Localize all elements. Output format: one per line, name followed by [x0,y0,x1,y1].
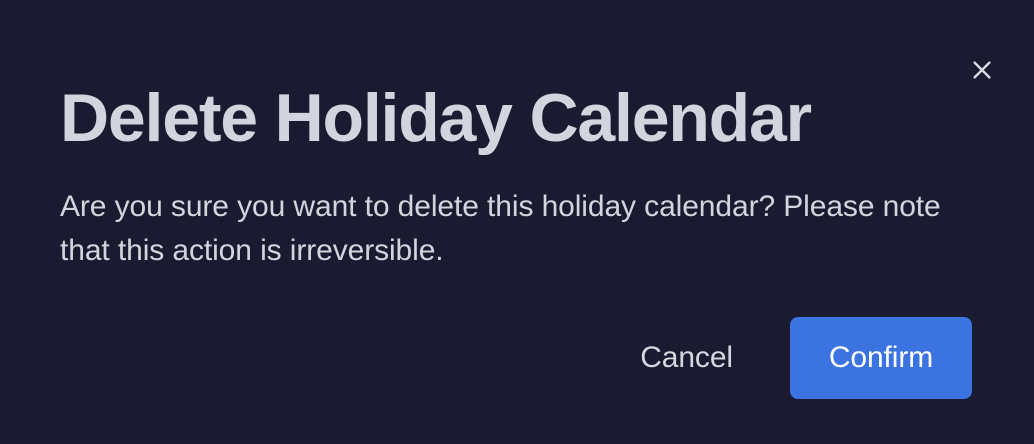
dialog-title: Delete Holiday Calendar [60,78,811,158]
cancel-button[interactable]: Cancel [640,343,733,373]
close-icon [972,60,992,80]
confirm-button[interactable]: Confirm [790,317,972,399]
dialog-actions: Cancel Confirm [0,317,1034,399]
close-button[interactable] [962,50,1002,90]
delete-holiday-calendar-dialog: Delete Holiday Calendar Are you sure you… [0,0,1034,444]
dialog-message: Are you sure you want to delete this hol… [60,185,944,273]
